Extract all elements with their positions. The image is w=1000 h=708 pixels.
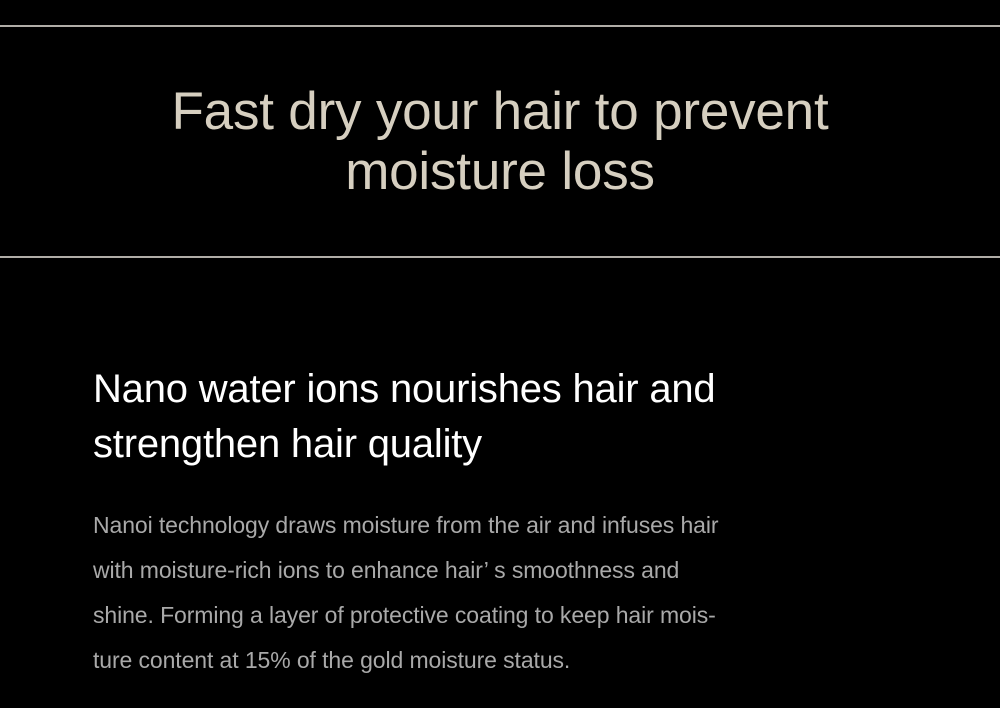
hero-title: Fast dry your hair to prevent moisture l… (90, 82, 910, 202)
hero-banner: Fast dry your hair to prevent moisture l… (0, 27, 1000, 256)
feature-section: Nano water ions nourishes hair and stren… (93, 362, 923, 683)
product-feature-page: Fast dry your hair to prevent moisture l… (0, 0, 1000, 708)
feature-heading: Nano water ions nourishes hair and stren… (93, 362, 923, 472)
section-divider (0, 256, 1000, 258)
feature-description: Nanoi technology draws moisture from the… (93, 472, 918, 682)
